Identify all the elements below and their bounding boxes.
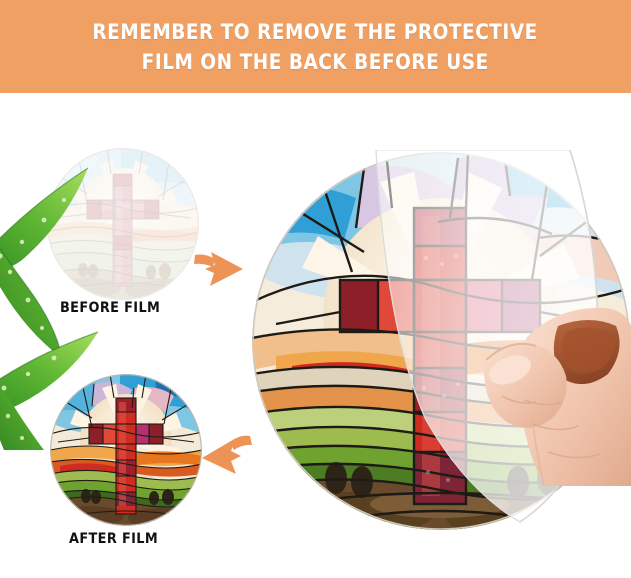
banner-line-1: REMEMBER TO REMOVE THE PROTECTIVE — [93, 17, 538, 47]
arrow-product-to-after — [192, 428, 254, 480]
stained-glass-cross-vivid — [50, 374, 202, 526]
header-banner: REMEMBER TO REMOVE THE PROTECTIVE FILM O… — [0, 0, 631, 93]
product-infographic: REMEMBER TO REMOVE THE PROTECTIVE FILM O… — [0, 0, 631, 578]
banner-line-2: FILM ON THE BACK BEFORE USE — [142, 47, 489, 77]
after-film-product-image — [50, 374, 202, 526]
arrow-before-to-product — [193, 243, 253, 295]
before-film-label: BEFORE FILM — [60, 300, 160, 316]
before-film-product-image — [47, 148, 199, 300]
after-film-label: AFTER FILM — [69, 531, 158, 547]
film-wash-overlay — [47, 148, 199, 300]
hand-peeling-film — [466, 296, 631, 486]
